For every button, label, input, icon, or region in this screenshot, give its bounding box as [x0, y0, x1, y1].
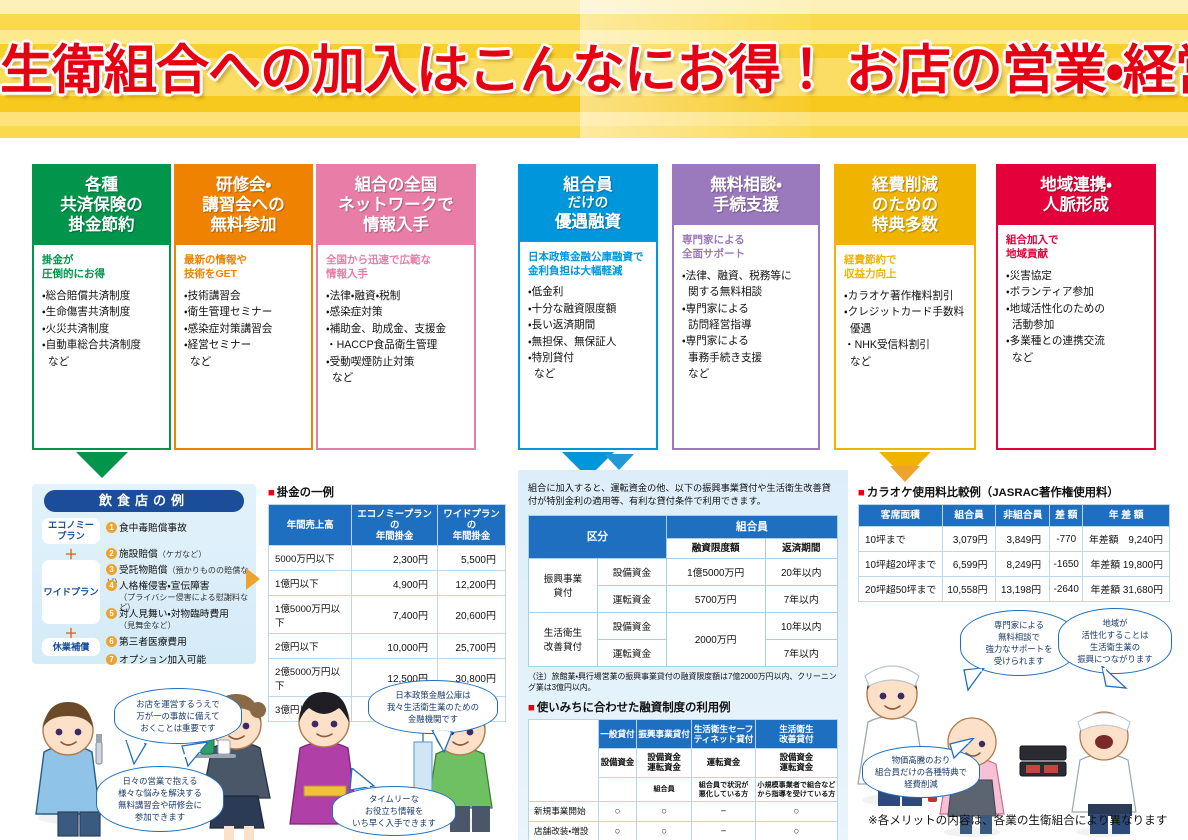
speech-bubble-2: 日々の営業で抱える 様々な悩みを解決する 無料講習会や研修会に 参加できます: [96, 766, 224, 832]
square-bullet-icon: ■: [858, 487, 865, 499]
karaoke-table: 客席面積組合員非組合員差 額年 差 額 10坪まで3,079円3,849円-77…: [858, 504, 1170, 602]
speech-tail-6: [1100, 666, 1132, 696]
benefit-card-list-item: ・法律・融資・税制: [326, 289, 467, 304]
finance-header-kubun: 区分: [529, 515, 667, 558]
benefit-card-list-item: ・クレジットカード手数料: [844, 305, 967, 320]
benefit-card: 無料相談・手続支援専門家による 全面サポート・法律、融資、税務等に関する無料相談…: [672, 164, 820, 450]
premium-table-cell: 5000万円以下: [269, 546, 352, 571]
loan-use-row-label: 店舗改装・増設: [529, 822, 599, 840]
loan-use-cell: ○: [636, 802, 691, 822]
finance-period-cell: 20年以内: [765, 558, 838, 585]
finance-kind-cell: 運転資金: [597, 585, 666, 612]
benefit-card-lead: 最新の情報や 技術をGET: [184, 254, 304, 282]
benefit-card-list-item: 活動参加: [1006, 318, 1147, 333]
restaurant-example-title: 飲食店の例: [44, 490, 244, 512]
arrow-down-icon: [76, 452, 128, 478]
benefit-card-body: 掛金が 圧倒的にお得・総合賠償共済制度・生命傷害共済制度・火災共済制度・自動車総…: [34, 245, 169, 448]
finance-note: （注）旅館業・興行場営業の振興事業貸付の融資限度額は7億2000万円以内、クリー…: [528, 671, 838, 693]
benefit-card-list-item: ・長い返済期間: [528, 318, 649, 333]
premium-table-title-text: 掛金の一例: [277, 487, 334, 499]
benefit-card-list-item: ・専門家による: [682, 334, 811, 349]
benefit-card-body: 経費節約で 収益力向上・カラオケ著作権料割引・クレジットカード手数料優遇・NHK…: [836, 245, 974, 448]
speech-tail-2: [178, 742, 212, 774]
loan-use-cell: ○: [755, 822, 837, 840]
benefit-card-title-line: 研修会・: [178, 175, 309, 195]
benefit-card-title-line: のための: [838, 195, 972, 215]
benefit-card-lead: 専門家による 全面サポート: [682, 234, 811, 262]
benefit-card-list-item: ・ボランティア参加: [1006, 285, 1147, 300]
benefit-card: 組合の全国ネットワークで情報入手全国から迅速で広範な 情報入手・法律・融資・税制…: [316, 164, 476, 450]
loan-use-title-text: 使いみちに合わせた融資制度の利用例: [537, 702, 731, 714]
coverage-item-note: （見舞金など）: [106, 621, 229, 631]
loan-use-table-body: 新規事業開始○○−○店舗改装・増設○○−○厨房機器・機械設備の導入○○−○運転資…: [529, 802, 838, 840]
benefit-card-list: ・災害協定・ボランティア参加・地域活性化のための活動参加・多業種との連携交流など: [1006, 269, 1147, 366]
benefit-card-list-item: ・HACCP食品衛生管理: [326, 338, 467, 353]
plan-chip-economy-label: エコノミープラン: [48, 520, 94, 541]
table-header-row: 一般貸付振興事業貸付生活衛生セーフティネット貸付生活衛生改善貸付: [529, 720, 838, 749]
finance-header-period: 返済期間: [765, 538, 838, 558]
table-row: 店舗改装・増設○○−○: [529, 822, 838, 840]
loan-use-condition-cell: 小規模事業者で組合などから指導を受けている方: [755, 778, 837, 802]
loan-use-corner-cell: [529, 720, 599, 802]
benefit-card-title-line: 組合の全国: [320, 175, 472, 195]
finance-intro-text: 組合に加入すると、運転資金の他、以下の振興事業貸付や生活衛生改善貸付が特別金利の…: [528, 482, 838, 509]
poster-page: 生衛組合への加入はこんなにお得！ お店の営業・経営をバックアップ!! 各種共済保…: [0, 0, 1188, 840]
loan-use-row-label: 新規事業開始: [529, 802, 599, 822]
karaoke-table-title-text: カラオケ使用料比較例（JASRAC著作権使用料）: [867, 487, 1119, 499]
benefit-card-list-item: 事務手続き支援: [682, 351, 811, 366]
finance-kind-cell: 設備資金: [597, 612, 666, 639]
benefit-card-title-line: 共済保険の: [36, 195, 167, 215]
karaoke-table-cell: 10,558円: [942, 577, 996, 602]
coverage-item-note: （ケガなど）: [158, 550, 207, 559]
table-row: 5000万円以下2,300円5,500円: [269, 546, 506, 571]
benefit-card-list-item: など: [42, 355, 162, 370]
benefit-card-lead: 経費節約で 収益力向上: [844, 254, 967, 282]
loan-use-cell: ○: [755, 802, 837, 822]
benefit-card-list-item: ・低金利: [528, 285, 649, 300]
coverage-item-number: 5: [106, 608, 117, 619]
coverage-item: 7オプション加入可能: [106, 654, 206, 667]
premium-table-cell: 1億円以下: [269, 571, 352, 596]
plan-chip-leave-label: 休業補償: [53, 642, 90, 653]
benefit-card-title-line: 特典多数: [838, 215, 972, 235]
karaoke-table-cell: 3,849円: [996, 527, 1050, 552]
table-header-row: 区分 組合員: [529, 515, 838, 538]
benefit-card: 各種共済保険の掛金節約掛金が 圧倒的にお得・総合賠償共済制度・生命傷害共済制度・…: [32, 164, 171, 450]
benefit-card-list-item: ・カラオケ著作権料割引: [844, 289, 967, 304]
premium-table-cell: 3億円以下: [269, 697, 352, 722]
coverage-item: 5対人見舞い・対物臨時費用 （見舞金など）: [106, 608, 229, 631]
restaurant-example-panel: 飲食店の例 エコノミープラン ＋ ワイドプラン ＋ 休業補償 1食中毒賠償事故 …: [32, 484, 256, 664]
benefit-card-title: 組合員だけの優遇融資: [520, 166, 656, 242]
premium-table-cell: 1億5000万円以下: [269, 596, 352, 634]
karaoke-table-cell: 20坪超50坪まで: [859, 577, 943, 602]
coverage-item-number: 1: [106, 522, 117, 533]
benefit-card-title-line: 手続支援: [676, 195, 816, 215]
loan-use-cell: −: [692, 822, 756, 840]
loan-use-table-head: 一般貸付振興事業貸付生活衛生セーフティネット貸付生活衛生改善貸付設備資金設備資金…: [529, 720, 838, 802]
benefit-card-list-item: 優遇: [844, 322, 967, 337]
table-row: 1億5000万円以下7,400円20,600円: [269, 596, 506, 634]
banner-title: 生衛組合への加入はこんなにお得！ お店の営業・経営をバックアップ!!: [0, 28, 1188, 104]
benefit-card-list-item: ・経営セミナー: [184, 338, 304, 353]
finance-period-cell: 10年以内: [765, 612, 838, 639]
benefit-card-title: 研修会・講習会への無料参加: [176, 166, 311, 245]
benefit-card-title-line: 無料参加: [178, 215, 309, 235]
loan-use-header-cell: 一般貸付: [599, 720, 637, 749]
benefit-card-list-item: ・十分な融資限度額: [528, 302, 649, 317]
benefit-card-lead: 掛金が 圧倒的にお得: [42, 254, 162, 282]
plan-chip-leave: 休業補償: [42, 638, 100, 656]
benefit-card-list-item: ・災害協定: [1006, 269, 1147, 284]
benefit-card-list-item: ・多業種との連携交流: [1006, 334, 1147, 349]
table-row: 10坪超20坪まで6,599円8,249円-1650年差額 19,800円: [859, 552, 1170, 577]
finance-period-cell: 7年以内: [765, 639, 838, 666]
benefit-card-list-item: ・法律、融資、税務等に: [682, 269, 811, 284]
table-row: 新規事業開始○○−○: [529, 802, 838, 822]
coverage-item-text: 第三者医療費用: [119, 637, 187, 648]
loan-use-cell: ○: [599, 822, 637, 840]
benefit-card-list-item: ・特別貸付: [528, 351, 649, 366]
benefit-card-lead: 全国から迅速で広範な 情報入手: [326, 254, 467, 282]
karaoke-table-header-cell: 非組合員: [996, 505, 1050, 527]
speech-bubble-6: 地域が 活性化することは 生活衛生業の 振興につながります: [1058, 608, 1172, 674]
plan-chip-economy: エコノミープラン: [42, 518, 100, 544]
premium-table-cell: 10,000円: [352, 634, 438, 659]
speech-tail-7: [944, 738, 980, 764]
loan-use-title: ■使いみちに合わせた融資制度の利用例: [528, 699, 838, 715]
coverage-item-text: 受託物賠償: [119, 565, 167, 576]
square-bullet-icon: ■: [528, 702, 535, 714]
karaoke-table-cell: 年差額 31,680円: [1083, 577, 1170, 602]
finance-panel: 組合に加入すると、運転資金の他、以下の振興事業貸付や生活衛生改善貸付が特別金利の…: [518, 470, 848, 840]
benefit-cards: 各種共済保険の掛金節約掛金が 圧倒的にお得・総合賠償共済制度・生命傷害共済制度・…: [0, 164, 1188, 464]
karaoke-table-cell: 6,599円: [942, 552, 996, 577]
benefit-card-title-line: 組合員: [522, 175, 654, 195]
premium-table-header-cell: エコノミープランの年間掛金: [352, 505, 438, 546]
benefit-card-title: 組合の全国ネットワークで情報入手: [318, 166, 474, 245]
table-header-row: 年間売上高エコノミープランの年間掛金ワイドプランの年間掛金: [269, 505, 506, 546]
karaoke-table-cell: -1650: [1050, 552, 1083, 577]
benefit-card-list-item: ・生命傷害共済制度: [42, 305, 162, 320]
table-row: 10坪まで3,079円3,849円-770年差額 9,240円: [859, 527, 1170, 552]
coverage-item-text: 人格権侵害・宣伝障害: [119, 581, 209, 592]
finance-limit-cell: 5700万円: [666, 585, 765, 612]
finance-table: 区分 組合員 融資限度額 返済期間 振興事業 貸付設備資金1億5000万円20年…: [528, 515, 838, 667]
finance-table-head: 区分 組合員 融資限度額 返済期間: [529, 515, 838, 558]
benefit-card-list: ・法律、融資、税務等に関する無料相談・専門家による訪問経営指導・専門家による事務…: [682, 269, 811, 383]
finance-category-cell: 生活衛生 改善貸付: [529, 612, 598, 666]
premium-table-cell: 2,300円: [352, 546, 438, 571]
benefit-card-body: 最新の情報や 技術をGET・技術講習会・衛生管理セミナー・感染症対策講習会・経営…: [176, 245, 311, 448]
benefit-card-list-item: 訪問経営指導: [682, 318, 811, 333]
loan-use-header-cell: 生活衛生改善貸付: [755, 720, 837, 749]
benefit-card-title-line: 優遇融資: [522, 212, 654, 232]
arrow-down-icon: [890, 466, 920, 482]
table-row: 振興事業 貸付設備資金1億5000万円20年以内: [529, 558, 838, 585]
benefit-card-list-item: ・技術講習会: [184, 289, 304, 304]
benefit-card-list-item: ・自動車総合共済制度: [42, 338, 162, 353]
benefit-card-list-item: ・火災共済制度: [42, 322, 162, 337]
coverage-item-text: 食中毒賠償事故: [119, 523, 187, 534]
finance-period-cell: 7年以内: [765, 585, 838, 612]
benefit-card-title-line: 人脈形成: [1000, 195, 1152, 215]
benefit-card-list-item: など: [682, 367, 811, 382]
benefit-card-body: 全国から迅速で広範な 情報入手・法律・融資・税制・感染症対策・補助金、助成金、支…: [318, 245, 474, 448]
finance-category-cell: 振興事業 貸付: [529, 558, 598, 612]
plan-chip-wide: ワイドプラン: [42, 560, 100, 624]
benefit-card-list-item: ・NHK受信料割引: [844, 338, 967, 353]
benefit-card-list-item: ・感染症対策講習会: [184, 322, 304, 337]
karaoke-table-head: 客席面積組合員非組合員差 額年 差 額: [859, 505, 1170, 527]
loan-use-subheader-cell: 設備資金運転資金: [636, 749, 691, 778]
premium-table-cell: 7,400円: [352, 596, 438, 634]
premium-table-cell: 5,500円: [437, 546, 505, 571]
benefit-card: 地域連携・人脈形成組合加入で 地域貢献・災害協定・ボランティア参加・地域活性化の…: [996, 164, 1156, 450]
speech-bubble-1: お店を運営するうえで 万が一の事故に備えて おくことは重要です: [114, 688, 242, 744]
benefit-card-lead: 日本政策金融公庫融資で 金利負担は大幅軽減: [528, 251, 649, 279]
speech-bubble-1-text: お店を運営するうえで 万が一の事故に備えて おくことは重要です: [136, 698, 220, 735]
loan-use-header-cell: 生活衛生セーフティネット貸付: [692, 720, 756, 749]
table-row: 20坪超50坪まで10,558円13,198円-2640年差額 31,680円: [859, 577, 1170, 602]
table-row: 2億円以下10,000円25,700円: [269, 634, 506, 659]
benefit-card-body: 組合加入で 地域貢献・災害協定・ボランティア参加・地域活性化のための活動参加・多…: [998, 225, 1154, 448]
karaoke-table-body: 10坪まで3,079円3,849円-770年差額 9,240円10坪超20坪まで…: [859, 527, 1170, 602]
loan-use-condition-cell: 組合員: [636, 778, 691, 802]
benefit-card-lead: 組合加入で 地域貢献: [1006, 234, 1147, 262]
karaoke-table-header-cell: 差 額: [1050, 505, 1083, 527]
loan-use-cell: ○: [599, 802, 637, 822]
premium-table-header-cell: ワイドプランの年間掛金: [437, 505, 505, 546]
coverage-item-text: オプション加入可能: [119, 655, 206, 666]
benefit-card-body: 日本政策金融公庫融資で 金利負担は大幅軽減・低金利・十分な融資限度額・長い返済期…: [520, 242, 656, 448]
premium-table-title: ■掛金の一例: [268, 484, 506, 500]
karaoke-table-header-cell: 客席面積: [859, 505, 943, 527]
premium-table-head: 年間売上高エコノミープランの年間掛金ワイドプランの年間掛金: [269, 505, 506, 546]
coverage-item: 2施設賠償（ケガなど）: [106, 548, 206, 561]
karaoke-table-cell: 年差額 9,240円: [1083, 527, 1170, 552]
benefit-card-list-item: など: [326, 371, 467, 386]
benefit-card-title-line: だけの: [522, 195, 654, 211]
speech-bubble-4-text: タイムリーな お役立ち情報を いち早く入手できます: [352, 793, 436, 830]
benefit-card: 研修会・講習会への無料参加最新の情報や 技術をGET・技術講習会・衛生管理セミナ…: [174, 164, 313, 450]
speech-tail-3: [430, 730, 460, 756]
person-barber: [36, 702, 102, 836]
premium-table-cell: 25,700円: [437, 634, 505, 659]
loan-use-subheader-cell: 設備資金運転資金: [755, 749, 837, 778]
karaoke-table-panel: ■カラオケ使用料比較例（JASRAC著作権使用料） 客席面積組合員非組合員差 額…: [858, 484, 1170, 602]
arrow-down-icon: [604, 454, 634, 470]
loan-use-table: 一般貸付振興事業貸付生活衛生セーフティネット貸付生活衛生改善貸付設備資金設備資金…: [528, 719, 838, 840]
benefit-card-title-line: 情報入手: [320, 215, 472, 235]
benefit-card-body: 専門家による 全面サポート・法律、融資、税務等に関する無料相談・専門家による訪問…: [674, 225, 818, 448]
benefit-card-list-item: 関する無料相談: [682, 285, 811, 300]
speech-bubble-3-text: 日本政策金融公庫は 我々生活衛生業のための 金融機関です: [387, 689, 479, 726]
finance-table-body: 振興事業 貸付設備資金1億5000万円20年以内運転資金5700万円7年以内生活…: [529, 558, 838, 666]
benefit-card-title-line: 各種: [36, 175, 167, 195]
premium-table-cell: 4,900円: [352, 571, 438, 596]
benefit-card-title-line: 無料相談・: [676, 175, 816, 195]
benefit-card-list: ・総合賠償共済制度・生命傷害共済制度・火災共済制度・自動車総合共済制度など: [42, 289, 162, 370]
premium-table-cell: 20,600円: [437, 596, 505, 634]
table-row: 生活衛生 改善貸付設備資金2000万円10年以内: [529, 612, 838, 639]
premium-table-cell: 2億円以下: [269, 634, 352, 659]
coverage-item-text: 対人見舞い・対物臨時費用: [119, 609, 229, 620]
coverage-item-number: 3: [106, 564, 117, 575]
karaoke-table-cell: 10坪超20坪まで: [859, 552, 943, 577]
benefit-card-list-item: など: [528, 367, 649, 382]
loan-use-condition-cell: [599, 778, 637, 802]
benefit-card-title-line: 経費削減: [838, 175, 972, 195]
benefit-card-list: ・低金利・十分な融資限度額・長い返済期間・無担保、無保証人・特別貸付など: [528, 285, 649, 382]
loan-use-subheader-cell: 設備資金: [599, 749, 637, 778]
table-row: 1億円以下4,900円12,200円: [269, 571, 506, 596]
coverage-item: 6第三者医療費用: [106, 636, 187, 649]
benefit-card-list-item: ・感染症対策: [326, 305, 467, 320]
square-bullet-icon: ■: [268, 487, 275, 499]
benefit-card-list-item: ・補助金、助成金、支援金: [326, 322, 467, 337]
loan-use-header-cell: 振興事業貸付: [636, 720, 691, 749]
coverage-item-number: 6: [106, 636, 117, 647]
premium-table-header-cell: 年間売上高: [269, 505, 352, 546]
speech-tail-5: [962, 668, 992, 694]
finance-limit-cell: 2000万円: [666, 612, 765, 666]
footer-note: ※各メリットの内容は、各業の生衛組合により異なります: [868, 812, 1178, 828]
benefit-card-title-line: 講習会への: [178, 195, 309, 215]
benefit-card-title-line: 掛金節約: [36, 215, 167, 235]
finance-limit-cell: 1億5000万円: [666, 558, 765, 585]
benefit-card-title: 経費削減のための特典多数: [836, 166, 974, 245]
benefit-card: 経費削減のための特典多数経費節約で 収益力向上・カラオケ著作権料割引・クレジット…: [834, 164, 976, 450]
benefit-card-list-item: ・受動喫煙防止対策: [326, 355, 467, 370]
karaoke-table-header-cell: 年 差 額: [1083, 505, 1170, 527]
finance-header-member: 組合員: [666, 515, 837, 538]
table-header-row: 客席面積組合員非組合員差 額年 差 額: [859, 505, 1170, 527]
karaoke-table-cell: 年差額 19,800円: [1083, 552, 1170, 577]
speech-tail-1: [122, 740, 152, 766]
speech-bubble-2-text: 日々の営業で抱える 様々な悩みを解決する 無料講習会や研修会に 参加できます: [118, 775, 202, 824]
benefit-card-list: ・法律・融資・税制・感染症対策・補助金、助成金、支援金・HACCP食品衛生管理・…: [326, 289, 467, 386]
benefit-card-list-item: ・総合賠償共済制度: [42, 289, 162, 304]
benefit-card-list-item: ・無担保、無保証人: [528, 335, 649, 350]
coverage-item-number: 2: [106, 548, 117, 559]
premium-table-cell: 12,200円: [437, 571, 505, 596]
benefit-card-list-item: ・地域活性化のための: [1006, 302, 1147, 317]
karaoke-table-cell: 13,198円: [996, 577, 1050, 602]
benefit-card-title: 各種共済保険の掛金節約: [34, 166, 169, 245]
header-banner: 生衛組合への加入はこんなにお得！ お店の営業・経営をバックアップ!!: [0, 0, 1188, 138]
karaoke-table-cell: -2640: [1050, 577, 1083, 602]
premium-table-cell: 2億5000万円以下: [269, 659, 352, 697]
loan-use-cell: ○: [636, 822, 691, 840]
karaoke-table-cell: 10坪まで: [859, 527, 943, 552]
karaoke-table-header-cell: 組合員: [942, 505, 996, 527]
arrow-right-icon: [246, 568, 260, 590]
benefit-card: 組合員だけの優遇融資日本政策金融公庫融資で 金利負担は大幅軽減・低金利・十分な融…: [518, 164, 658, 450]
benefit-card-list: ・技術講習会・衛生管理セミナー・感染症対策講習会・経営セミナーなど: [184, 289, 304, 370]
coverage-item-text: 施設賠償: [119, 549, 158, 560]
benefit-card-list-item: ・専門家による: [682, 302, 811, 317]
benefit-card-list-item: など: [1006, 351, 1147, 366]
karaoke-table-cell: -770: [1050, 527, 1083, 552]
benefit-card-title: 地域連携・人脈形成: [998, 166, 1154, 225]
benefit-card-list-item: ・衛生管理セミナー: [184, 305, 304, 320]
benefit-card-title: 無料相談・手続支援: [674, 166, 818, 225]
speech-bubble-6-text: 地域が 活性化することは 生活衛生業の 振興につながります: [1077, 617, 1152, 666]
plan-chip-wide-label: ワイドプラン: [43, 587, 98, 598]
benefit-card-list-item: など: [184, 355, 304, 370]
benefit-card-list: ・カラオケ著作権料割引・クレジットカード手数料優遇・NHK受信料割引など: [844, 289, 967, 370]
finance-kind-cell: 設備資金: [597, 558, 666, 585]
karaoke-table-title: ■カラオケ使用料比較例（JASRAC著作権使用料）: [858, 484, 1170, 500]
karaoke-table-cell: 3,079円: [942, 527, 996, 552]
speech-tail-4: [346, 768, 380, 794]
coverage-item-number: 7: [106, 654, 117, 665]
coverage-item-number: 4: [106, 580, 117, 591]
speech-bubble-5-text: 専門家による 無料相談で 強力なサポートを 受けられます: [986, 619, 1053, 668]
speech-bubble-3: 日本政策金融公庫は 我々生活衛生業のための 金融機関です: [368, 680, 498, 734]
coverage-item: 1食中毒賠償事故: [106, 522, 187, 535]
benefit-card-list-item: など: [844, 355, 967, 370]
loan-use-subheader-cell: 運転資金: [692, 749, 756, 778]
finance-header-limit: 融資限度額: [666, 538, 765, 558]
benefit-card-title-line: 地域連携・: [1000, 175, 1152, 195]
karaoke-table-cell: 8,249円: [996, 552, 1050, 577]
loan-use-cell: −: [692, 802, 756, 822]
loan-use-condition-cell: 組合員で状況が悪化している方: [692, 778, 756, 802]
finance-kind-cell: 運転資金: [597, 639, 666, 666]
benefit-card-title-line: ネットワークで: [320, 195, 472, 215]
